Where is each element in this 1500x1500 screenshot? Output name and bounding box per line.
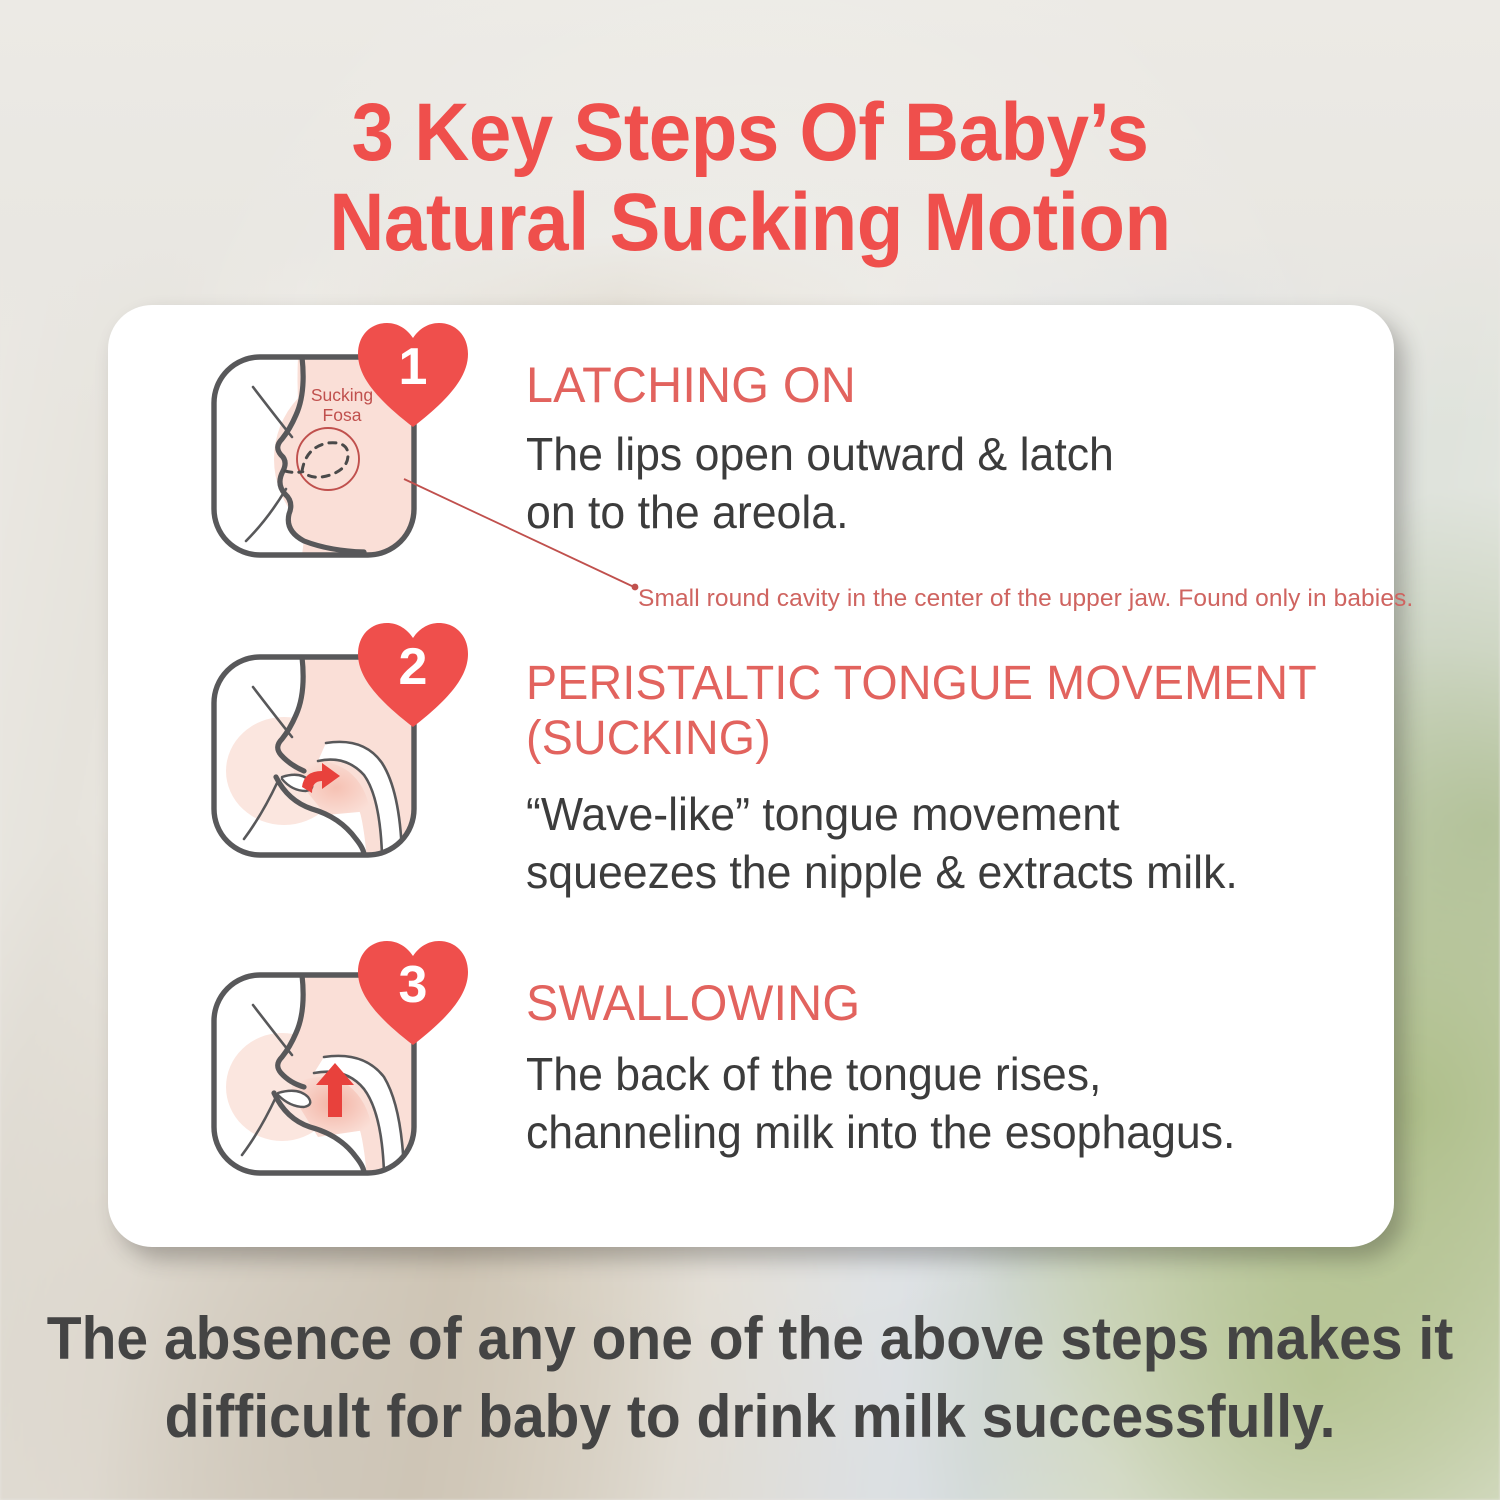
page-title-line-2: Natural Sucking Motion (53, 178, 1448, 268)
steps-card: Sucking Fosa 1 LATCHING ON The lips open… (108, 305, 1394, 1247)
step-3-heading: SWALLOWING (526, 975, 1325, 1032)
step-2-body: “Wave-like” tongue movement squeezes the… (526, 786, 1325, 902)
step-item-2: 2 PERISTALTIC TONGUE MOVEMENT (SUCKING) … (206, 641, 1350, 959)
step-badge-heart-1: 1 (354, 319, 472, 431)
step-1-footnote: Small round cavity in the center of the … (638, 585, 1413, 613)
step-number-3: 3 (354, 959, 472, 1011)
step-3-text: SWALLOWING The back of the tongue rises,… (496, 959, 1350, 1162)
page-title-line-1: 3 Key Steps Of Baby’s (53, 88, 1448, 178)
step-1-illustration-wrap: Sucking Fosa 1 (206, 341, 496, 573)
bottom-caption: The absence of any one of the above step… (38, 1300, 1463, 1456)
steps-list: Sucking Fosa 1 LATCHING ON The lips open… (108, 305, 1394, 1247)
step-1-text: LATCHING ON The lips open outward & latc… (496, 341, 1350, 542)
step-item-3: 3 SWALLOWING The back of the tongue rise… (206, 959, 1350, 1259)
step-2-text: PERISTALTIC TONGUE MOVEMENT (SUCKING) “W… (496, 641, 1350, 902)
step-number-1: 1 (354, 341, 472, 393)
step-item-1: Sucking Fosa 1 LATCHING ON The lips open… (206, 341, 1350, 641)
step-3-illustration-wrap: 3 (206, 959, 496, 1191)
bottom-caption-line-1: The absence of any one of the above step… (38, 1300, 1463, 1378)
step-badge-heart-3: 3 (354, 937, 472, 1049)
step-2-illustration-wrap: 2 (206, 641, 496, 873)
step-3-body: The back of the tongue rises, channeling… (526, 1046, 1325, 1162)
infographic-canvas: 3 Key Steps Of Baby’s Natural Sucking Mo… (0, 0, 1500, 1500)
page-title: 3 Key Steps Of Baby’s Natural Sucking Mo… (53, 88, 1448, 268)
step-2-heading: PERISTALTIC TONGUE MOVEMENT (SUCKING) (526, 657, 1325, 766)
step-number-2: 2 (354, 641, 472, 693)
step-1-heading: LATCHING ON (526, 357, 1325, 414)
bottom-caption-line-2: difficult for baby to drink milk success… (38, 1378, 1463, 1456)
step-badge-heart-2: 2 (354, 619, 472, 731)
step-1-body: The lips open outward & latch on to the … (526, 426, 1325, 542)
